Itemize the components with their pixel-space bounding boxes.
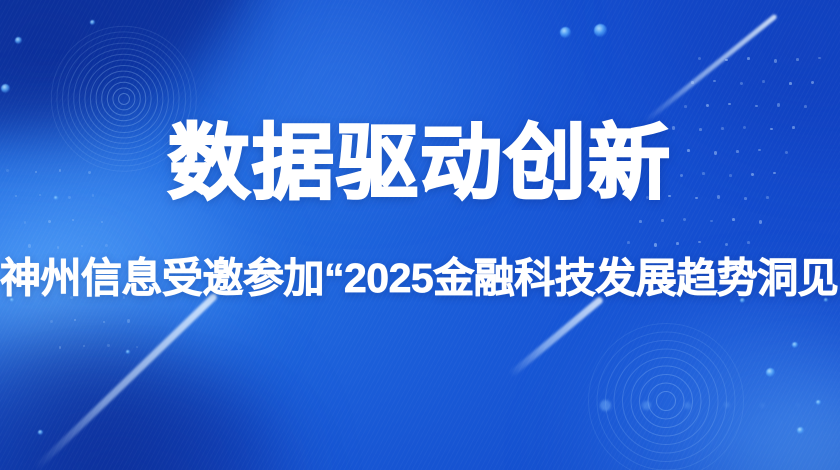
promo-banner: 数据驱动创新 神州信息受邀参加“2025金融科技发展趋势洞见”活动 — [0, 0, 840, 470]
banner-text-layer: 数据驱动创新 神州信息受邀参加“2025金融科技发展趋势洞见”活动 — [0, 0, 840, 470]
banner-headline: 数据驱动创新 — [0, 117, 840, 211]
banner-subheadline: 神州信息受邀参加“2025金融科技发展趋势洞见”活动 — [0, 252, 840, 304]
